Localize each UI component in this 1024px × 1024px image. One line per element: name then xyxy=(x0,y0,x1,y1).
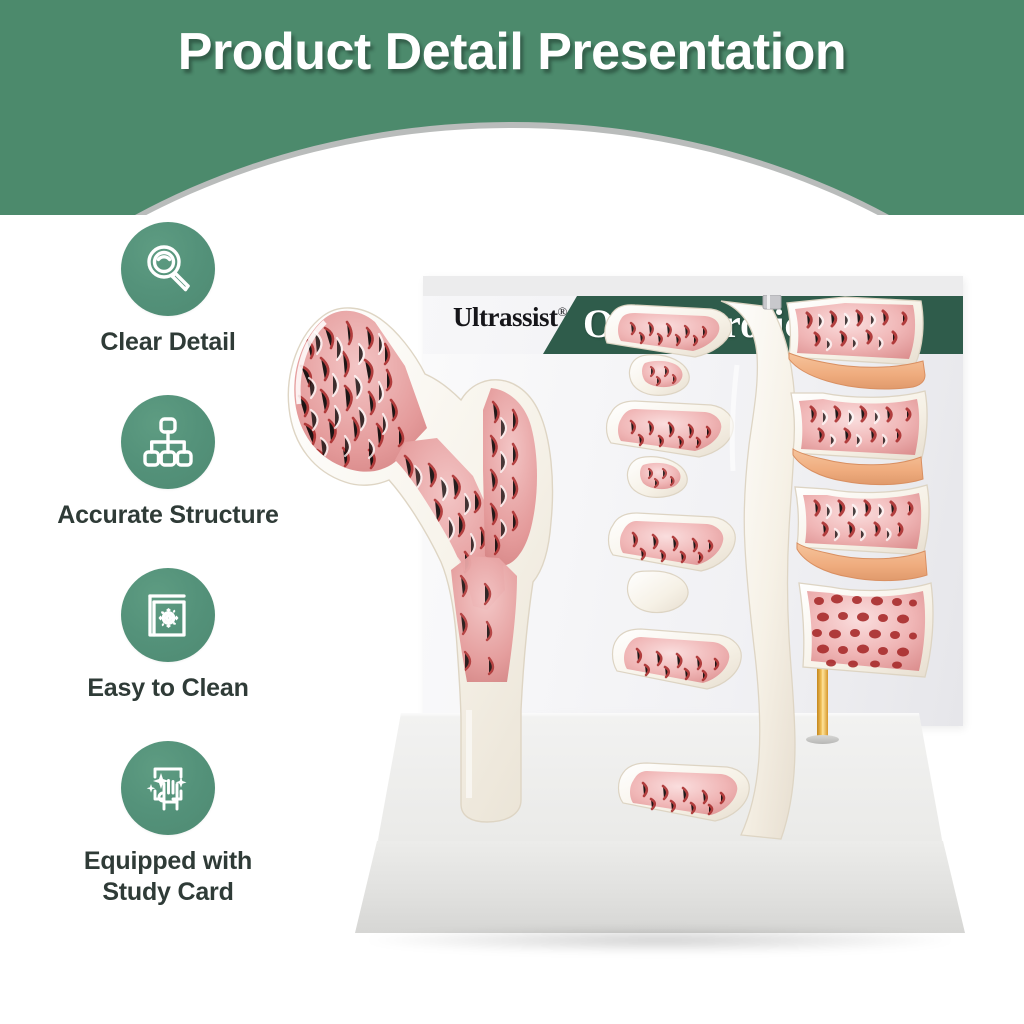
org-chart-icon xyxy=(121,395,215,489)
hand-sparkle-icon xyxy=(121,741,215,835)
feature-label-line-2: Study Card xyxy=(102,878,233,906)
product-presentation-page: Product Detail Presentation Clear Detail xyxy=(0,0,1024,1024)
femur-cross-section xyxy=(255,270,585,840)
vertebrae-column xyxy=(595,295,955,855)
magnifier-icon xyxy=(121,222,215,316)
display-base-shadow xyxy=(365,927,955,953)
feature-label-line-1: Equipped with xyxy=(84,847,252,875)
product-photo: Osteoporotic Model Ultrassist® xyxy=(255,215,1024,1024)
header-banner: Product Detail Presentation xyxy=(0,0,1024,215)
page-title: Product Detail Presentation xyxy=(0,22,1024,82)
dome-shape xyxy=(0,128,1024,215)
mount-screw xyxy=(763,295,781,309)
book-gear-icon xyxy=(121,568,215,662)
